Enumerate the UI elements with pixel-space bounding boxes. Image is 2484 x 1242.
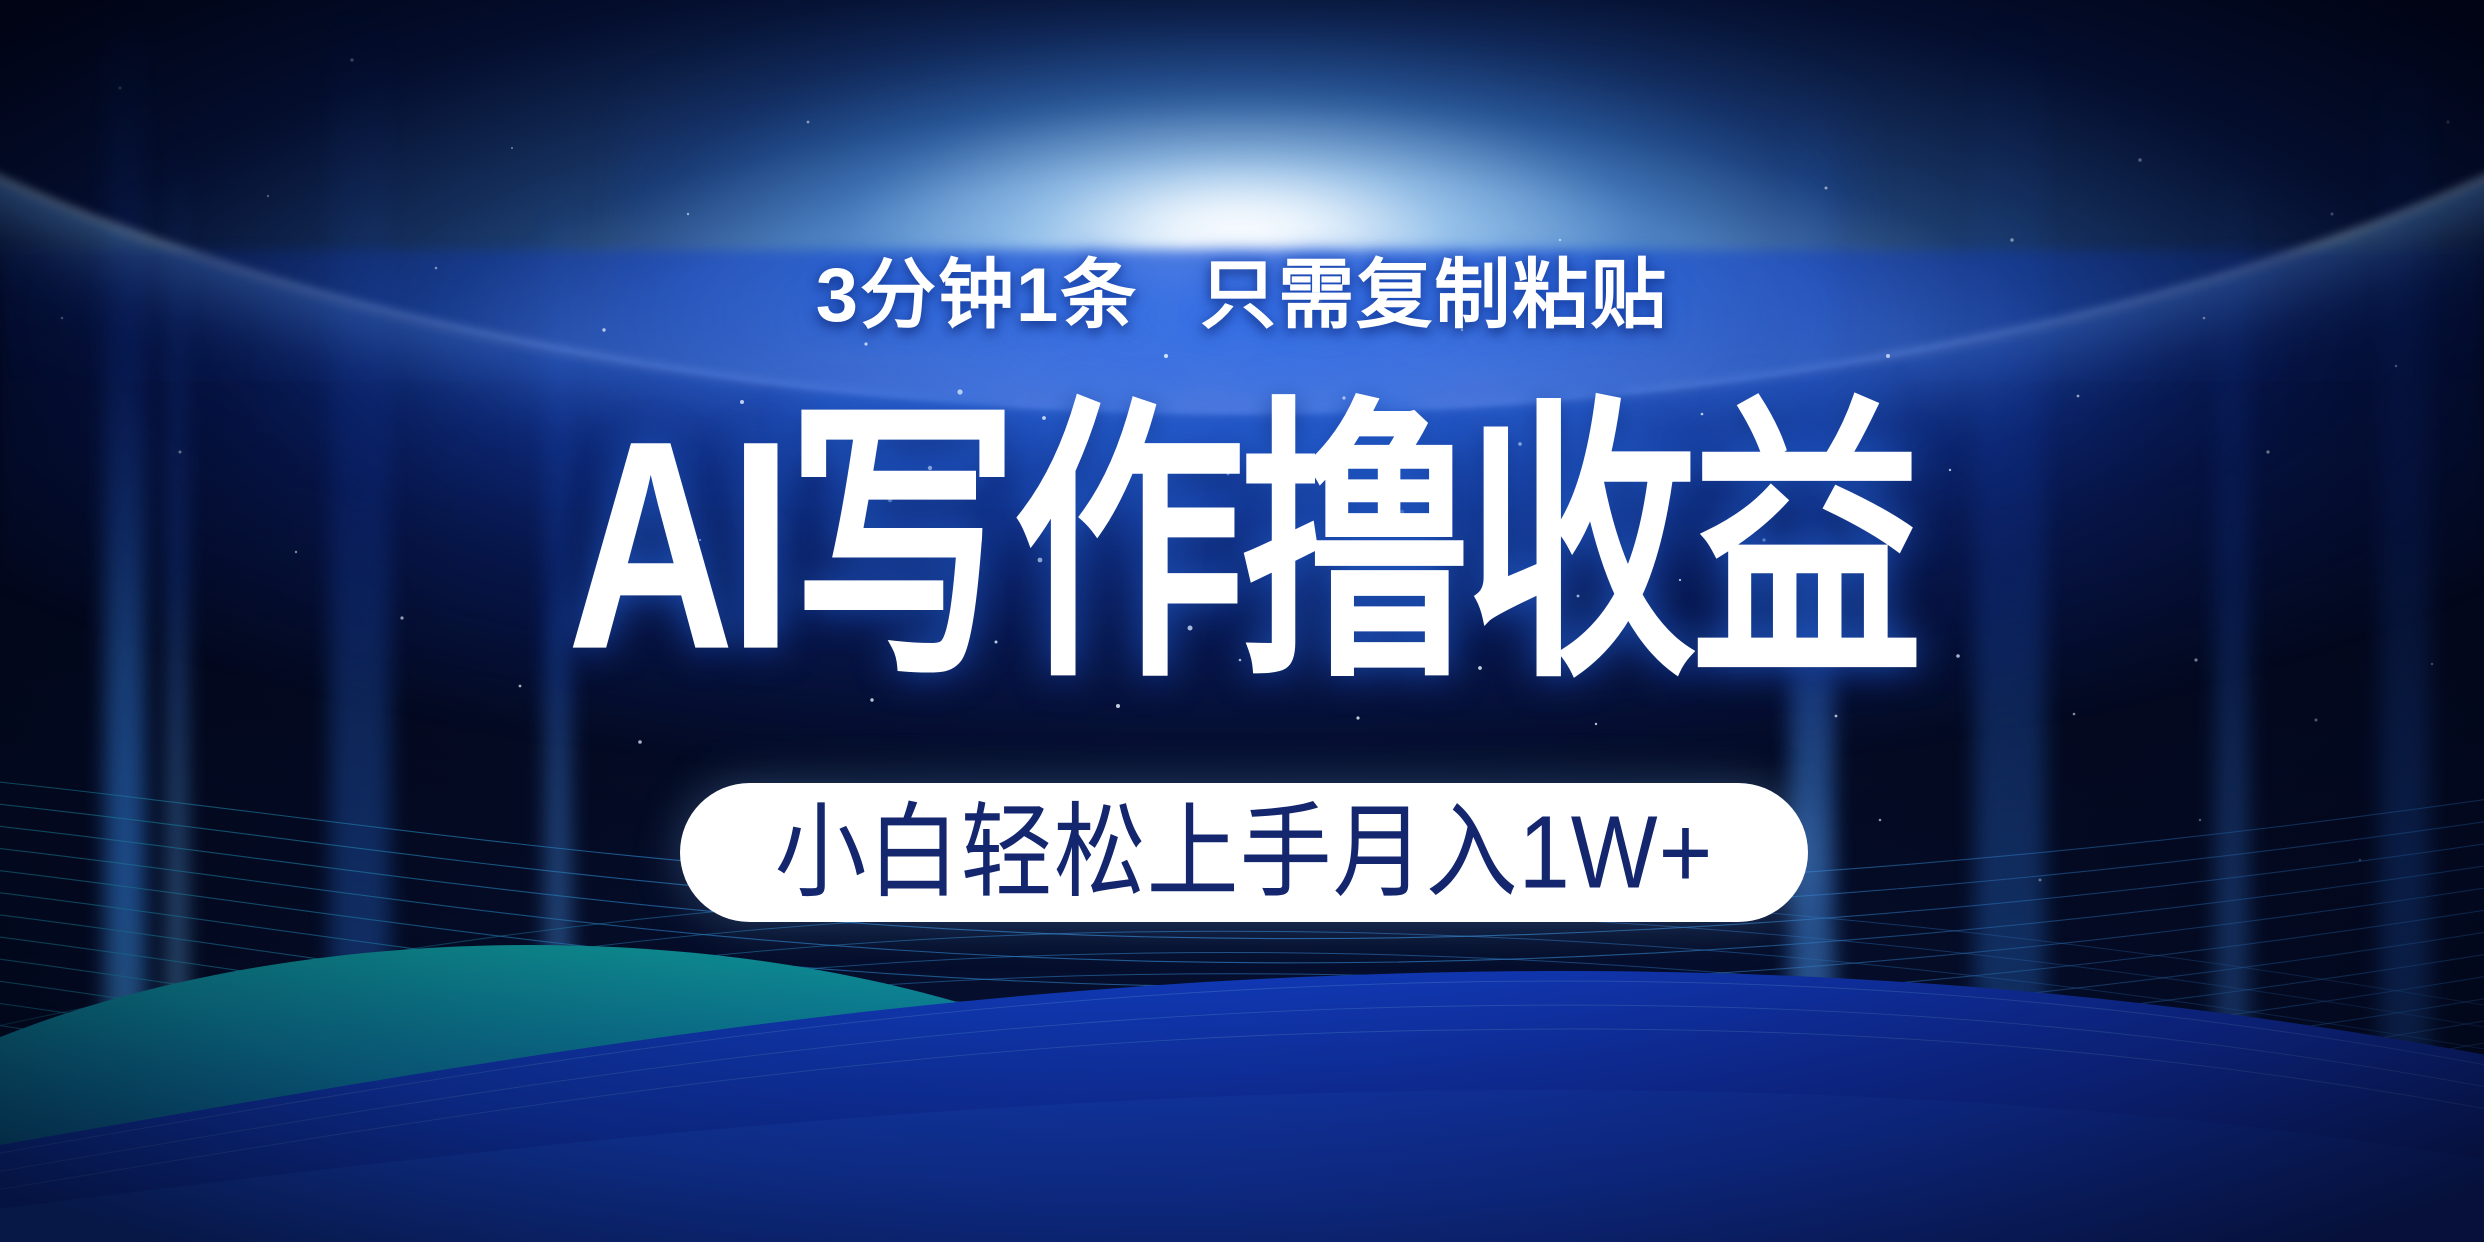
headline-title: AI写作撸收益 — [0, 398, 2484, 695]
kicker-part-b: 只需复制粘贴 — [1200, 253, 1668, 338]
subtitle-pill: 小白轻松上手月入1W+ — [680, 783, 1808, 922]
kicker-line: 3分钟1条只需复制粘贴 — [0, 258, 2484, 334]
text-content: 3分钟1条只需复制粘贴 AI写作撸收益 小白轻松上手月入1W+ — [0, 0, 2484, 1242]
promo-banner: 3分钟1条只需复制粘贴 AI写作撸收益 小白轻松上手月入1W+ — [0, 0, 2484, 1242]
kicker-part-a: 3分钟1条 — [816, 253, 1139, 338]
subtitle-pill-label: 小白轻松上手月入1W+ — [775, 801, 1714, 904]
